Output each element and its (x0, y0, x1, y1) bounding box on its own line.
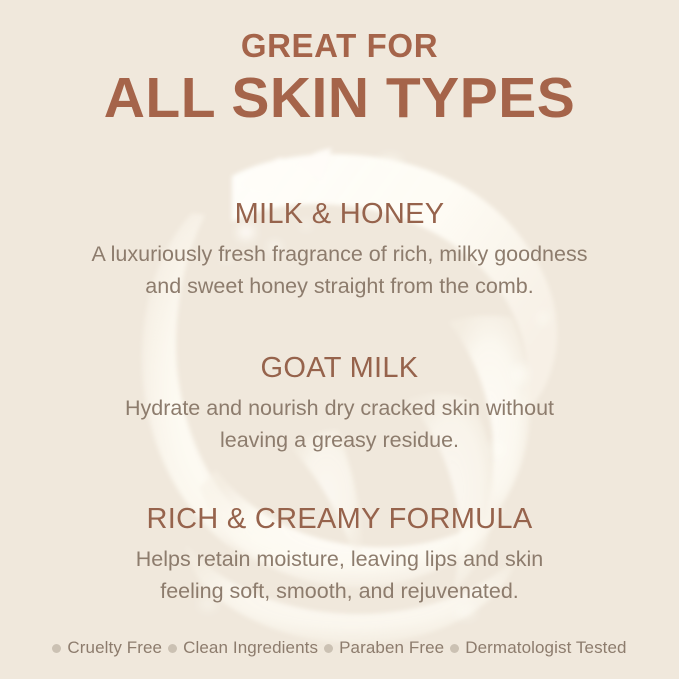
benefit-block-rich-and-creamy-formula: RICH & CREAMY FORMULA Helps retain moist… (0, 503, 679, 607)
claim-badge-label: Cruelty Free (67, 638, 162, 658)
claim-badge-label: Dermatologist Tested (465, 638, 626, 658)
benefit-block-goat-milk: GOAT MILK Hydrate and nourish dry cracke… (0, 352, 679, 456)
benefit-title: GOAT MILK (0, 352, 679, 385)
benefit-description-line: A luxuriously fresh fragrance of rich, m… (40, 239, 640, 270)
benefit-description-line: Helps retain moisture, leaving lips and … (40, 544, 640, 575)
benefit-description-line: Hydrate and nourish dry cracked skin wit… (40, 393, 640, 424)
dot-icon (52, 644, 61, 653)
benefit-description-line: and sweet honey straight from the comb. (40, 271, 640, 302)
benefit-description: A luxuriously fresh fragrance of rich, m… (40, 239, 640, 301)
product-benefits-poster: GREAT FOR ALL SKIN TYPES MILK & HONEY A … (0, 0, 679, 679)
kicker-heading: GREAT FOR (0, 29, 679, 62)
benefit-title: RICH & CREAMY FORMULA (0, 503, 679, 536)
poster-content: GREAT FOR ALL SKIN TYPES MILK & HONEY A … (0, 0, 679, 679)
dot-icon (168, 644, 177, 653)
claims-badge-row: Cruelty Free Clean Ingredients Paraben F… (0, 638, 679, 658)
benefit-block-milk-and-honey: MILK & HONEY A luxuriously fresh fragran… (0, 198, 679, 302)
claim-badge-clean-ingredients: Clean Ingredients (168, 638, 318, 658)
claim-badge-label: Paraben Free (339, 638, 444, 658)
dot-icon (450, 644, 459, 653)
claim-badge-cruelty-free: Cruelty Free (52, 638, 162, 658)
claim-badge-dermatologist-tested: Dermatologist Tested (450, 638, 626, 658)
benefit-description-line: feeling soft, smooth, and rejuvenated. (40, 576, 640, 607)
claim-badge-label: Clean Ingredients (183, 638, 318, 658)
benefit-description-line: leaving a greasy residue. (40, 425, 640, 456)
benefit-title: MILK & HONEY (0, 198, 679, 231)
benefit-description: Hydrate and nourish dry cracked skin wit… (40, 393, 640, 455)
dot-icon (324, 644, 333, 653)
benefit-description: Helps retain moisture, leaving lips and … (40, 544, 640, 606)
page-title: ALL SKIN TYPES (0, 70, 679, 127)
claim-badge-paraben-free: Paraben Free (324, 638, 444, 658)
